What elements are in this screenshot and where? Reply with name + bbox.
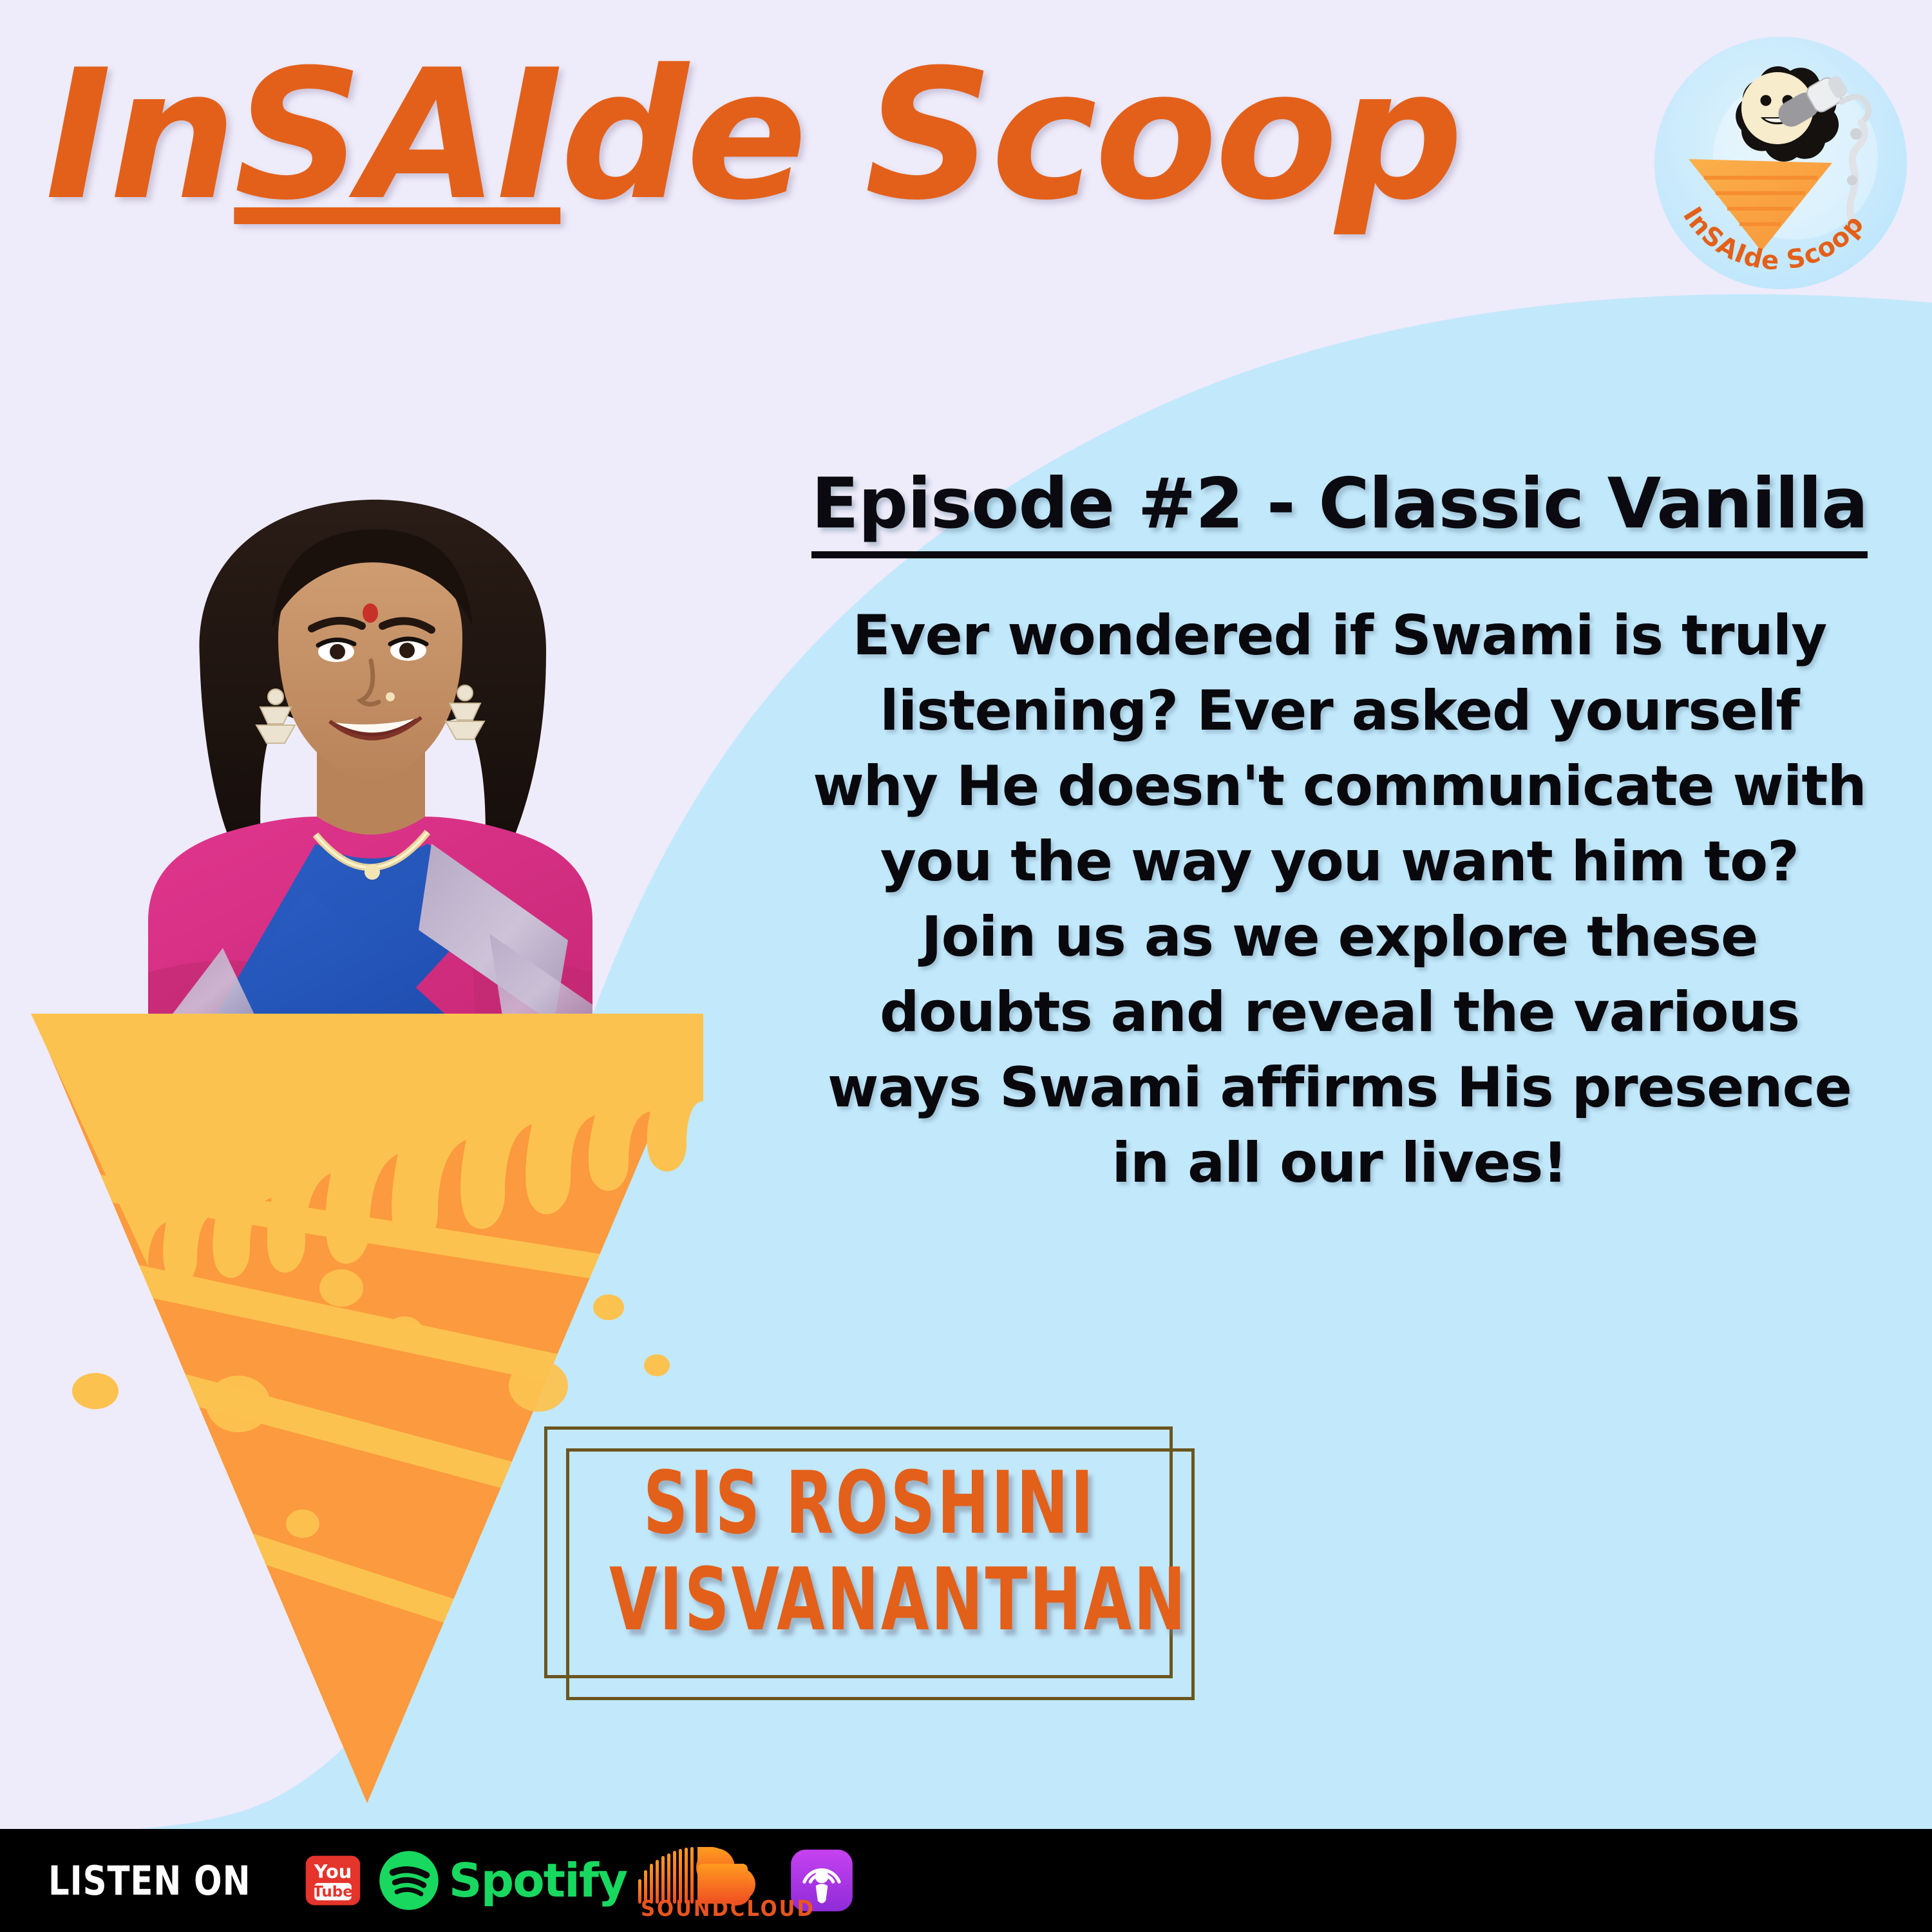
description-line: why He doesn't communicate with <box>792 749 1887 824</box>
platform-spotify[interactable]: Spotify <box>375 1847 627 1914</box>
platform-youtube[interactable]: You Tube <box>302 1850 364 1911</box>
description-line: you the way you want him to? <box>792 824 1887 900</box>
guest-name-line-2: VISVANANTHAN <box>609 1551 1130 1648</box>
youtube-wordmark-bottom: Tube <box>313 1884 353 1900</box>
brand-title-sai: SAI <box>234 31 560 240</box>
description-line: Join us as we explore these <box>792 900 1887 975</box>
description-line: doubts and reveal the various <box>792 975 1887 1050</box>
guest-name-line-1: SIS ROSHINI <box>609 1455 1130 1551</box>
listen-on-label: LISTEN ON <box>48 1857 251 1904</box>
episode-title: Episode #2 - Classic Vanilla <box>811 464 1868 558</box>
podcast-cover-art: InSAIde Scoop <box>0 0 1932 1932</box>
listen-on-footer-bar: LISTEN ON You Tube <box>0 1829 1932 1932</box>
episode-description: Ever wondered if Swami is truly listenin… <box>792 598 1887 1201</box>
platform-soundcloud[interactable]: SOUNDCLOUD <box>638 1842 777 1919</box>
description-line: listening? Ever asked yourself <box>792 674 1887 749</box>
host-portrait-photo <box>39 444 702 1024</box>
spotify-icon[interactable] <box>375 1847 442 1914</box>
youtube-wordmark-top: You <box>314 1861 352 1882</box>
description-line: ways Swami affirms His presence <box>792 1050 1887 1126</box>
brand-title-post: de Scoop <box>560 31 1461 240</box>
brand-title: InSAIde Scoop <box>45 39 1604 251</box>
episode-content-block: Episode #2 - Classic Vanilla Ever wonder… <box>792 464 1887 1201</box>
guest-name-plate: SIS ROSHINI VISVANANTHAN <box>544 1426 1195 1700</box>
brand-title-pre: In <box>45 31 234 240</box>
description-line: in all our lives! <box>792 1126 1887 1201</box>
youtube-icon[interactable]: You Tube <box>302 1850 364 1911</box>
spotify-wordmark: Spotify <box>449 1853 627 1908</box>
description-line: Ever wondered if Swami is truly <box>792 598 1887 674</box>
brand-logo-badge: InSAIde Scoop <box>1649 31 1913 295</box>
soundcloud-wordmark: SOUNDCLOUD <box>641 1896 815 1922</box>
